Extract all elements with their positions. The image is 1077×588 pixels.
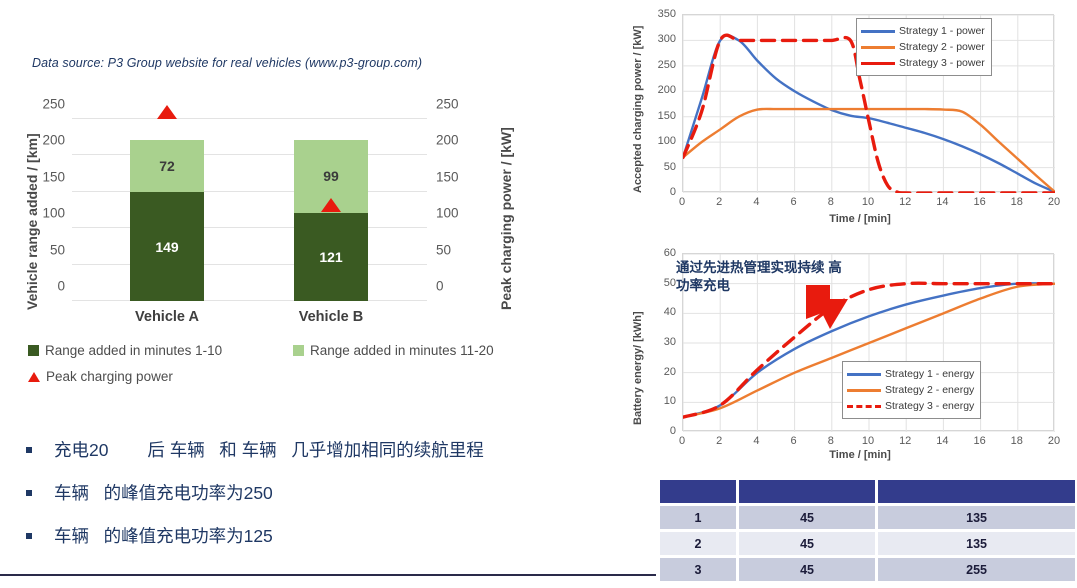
y2-tick-label: 200 <box>436 133 474 148</box>
x-tick-label: 18 <box>1006 196 1028 208</box>
light-green-swatch-icon <box>293 345 304 356</box>
legend-item[interactable]: Strategy 1 - energy <box>847 366 974 382</box>
y-tick-label: 150 <box>650 110 676 122</box>
y-tick-label: 60 <box>650 247 676 259</box>
table-cell: 1 <box>659 505 737 530</box>
footer-divider <box>0 574 656 576</box>
y-tick-label: 250 <box>650 59 676 71</box>
bar-value-label: 121 <box>319 249 342 265</box>
x-tick-label: 18 <box>1006 435 1028 447</box>
legend-label: Strategy 3 - power <box>899 57 985 69</box>
legend-item[interactable]: Strategy 2 - power <box>861 39 985 55</box>
x-tick-label: 4 <box>745 435 767 447</box>
energy-line-chart: Battery energy/ [kWh] Time / [min] 0 10 … <box>620 243 1077 468</box>
y-tick-label: 0 <box>27 279 65 294</box>
y-tick-label: 50 <box>650 277 676 289</box>
legend-item[interactable]: Strategy 2 - energy <box>847 382 974 398</box>
table-cell: 135 <box>877 505 1076 530</box>
legend-label: Strategy 3 - energy <box>885 400 974 412</box>
y2-tick-label: 50 <box>436 242 474 257</box>
y-tick-label: 30 <box>650 336 676 348</box>
y-tick-label: 200 <box>650 84 676 96</box>
x-tick-label: 8 <box>820 435 842 447</box>
table-row[interactable]: 2 45 135 <box>659 531 1076 556</box>
gridline <box>72 118 427 119</box>
gridline <box>72 264 427 265</box>
bar-segment-range-1-10[interactable]: 121 <box>294 213 368 301</box>
y-tick-label: 200 <box>27 133 65 148</box>
blue-line-icon <box>847 373 881 376</box>
y-tick-label: 10 <box>650 395 676 407</box>
x-tick-label: 20 <box>1043 435 1065 447</box>
bar-segment-range-1-10[interactable]: 149 <box>130 192 204 301</box>
y2-tick-label: 150 <box>436 169 474 184</box>
right-panel: Accepted charging power / [kW] Time / [m… <box>620 0 1077 588</box>
legend-item[interactable]: Strategy 1 - power <box>861 23 985 39</box>
legend-item-range-1-10[interactable]: Range added in minutes 1-10 <box>28 343 222 358</box>
y-tick-label: 150 <box>27 169 65 184</box>
energy-chart-x-axis-title: Time / [min] <box>680 449 1040 461</box>
table-cell: 2 <box>659 531 737 556</box>
y-tick-label: 20 <box>650 366 676 378</box>
table-header-row <box>659 479 1076 504</box>
bar-chart: Vehicle range added / [km] Peak charging… <box>0 95 540 340</box>
table-cell: 135 <box>877 531 1076 556</box>
table-header-cell <box>738 479 876 504</box>
x-category-label: Vehicle B <box>251 309 411 325</box>
blue-line-icon <box>861 30 895 33</box>
bar-chart-y2-axis-title: Peak charging power / [kW] <box>498 127 514 310</box>
gridline <box>72 300 427 301</box>
y2-tick-label: 250 <box>436 96 474 111</box>
x-tick-label: 12 <box>894 196 916 208</box>
orange-line-icon <box>847 389 881 392</box>
left-panel: Data source: P3 Group website for real v… <box>0 0 655 588</box>
bar-value-label: 149 <box>155 239 178 255</box>
x-tick-label: 4 <box>745 196 767 208</box>
power-line-chart: Accepted charging power / [kW] Time / [m… <box>620 8 1077 233</box>
table-cell: 45 <box>738 557 876 582</box>
energy-chart-legend: Strategy 1 - energy Strategy 2 - energy … <box>842 361 981 419</box>
y2-tick-label: 0 <box>436 279 474 294</box>
bullet-item: 车辆 的峰值充电功率为125 <box>24 526 624 547</box>
x-tick-label: 6 <box>783 196 805 208</box>
x-tick-label: 0 <box>671 435 693 447</box>
y2-tick-label: 100 <box>436 206 474 221</box>
table-cell: 3 <box>659 557 737 582</box>
table-cell: 255 <box>877 557 1076 582</box>
legend-item-range-11-20[interactable]: Range added in minutes 11-20 <box>293 343 494 358</box>
table-header-cell <box>877 479 1076 504</box>
legend-item[interactable]: Strategy 3 - power <box>861 55 985 71</box>
x-tick-label: 10 <box>857 435 879 447</box>
x-tick-label: 14 <box>931 196 953 208</box>
summary-table: 1 45 135 2 45 135 3 45 255 <box>658 478 1077 583</box>
y-tick-label: 250 <box>27 96 65 111</box>
y-tick-label: 100 <box>27 206 65 221</box>
data-source-caption: Data source: P3 Group website for real v… <box>32 56 422 70</box>
dark-green-swatch-icon <box>28 345 39 356</box>
peak-power-marker-b <box>321 198 341 212</box>
x-tick-label: 12 <box>894 435 916 447</box>
y-tick-label: 300 <box>650 33 676 45</box>
slide-page: Data source: P3 Group website for real v… <box>0 0 1077 588</box>
x-tick-label: 20 <box>1043 196 1065 208</box>
legend-label: Range added in minutes 1-10 <box>45 343 222 358</box>
bullet-item: 车辆 的峰值充电功率为250 <box>24 483 624 504</box>
table-cell: 45 <box>738 531 876 556</box>
bar-chart-legend: Range added in minutes 1-10 Range added … <box>28 343 548 387</box>
x-tick-label: 0 <box>671 196 693 208</box>
red-dashed-line-icon <box>847 405 881 408</box>
table-header-cell <box>659 479 737 504</box>
x-category-label: Vehicle A <box>87 309 247 325</box>
energy-chart-y-axis-title: Battery energy/ [kWh] <box>632 311 644 425</box>
x-tick-label: 2 <box>708 196 730 208</box>
x-tick-label: 2 <box>708 435 730 447</box>
table-row[interactable]: 3 45 255 <box>659 557 1076 582</box>
x-tick-label: 6 <box>783 435 805 447</box>
y-tick-label: 350 <box>650 8 676 20</box>
bar-value-label: 99 <box>323 168 339 184</box>
y-tick-label: 40 <box>650 306 676 318</box>
x-tick-label: 10 <box>857 196 879 208</box>
bullet-list: 充电20 后 车辆 和 车辆 几乎增加相同的续航里程 车辆 的峰值充电功率为25… <box>24 440 624 569</box>
legend-row: Peak charging power <box>28 365 548 387</box>
legend-label: Peak charging power <box>46 369 173 384</box>
power-chart-legend: Strategy 1 - power Strategy 2 - power St… <box>856 18 992 76</box>
x-tick-label: 8 <box>820 196 842 208</box>
y-tick-label: 50 <box>27 242 65 257</box>
table-row[interactable]: 1 45 135 <box>659 505 1076 530</box>
red-line-icon <box>861 62 895 65</box>
bullet-item: 充电20 后 车辆 和 车辆 几乎增加相同的续航里程 <box>24 440 624 461</box>
bar-value-label: 72 <box>159 158 175 174</box>
x-tick-label: 14 <box>931 435 953 447</box>
x-tick-label: 16 <box>969 435 991 447</box>
power-chart-x-axis-title: Time / [min] <box>680 213 1040 225</box>
legend-label: Range added in minutes 11-20 <box>310 343 494 358</box>
gridline <box>72 191 427 192</box>
bar-segment-range-11-20[interactable]: 72 <box>130 140 204 193</box>
peak-power-marker-a <box>157 105 177 119</box>
legend-label: Strategy 1 - power <box>899 25 985 37</box>
legend-item-peak-power[interactable]: Peak charging power <box>28 369 173 384</box>
y-tick-label: 50 <box>650 161 676 173</box>
legend-row: Range added in minutes 1-10 Range added … <box>28 343 548 365</box>
legend-label: Strategy 2 - power <box>899 41 985 53</box>
table-cell: 45 <box>738 505 876 530</box>
gridline <box>72 227 427 228</box>
y-tick-label: 100 <box>650 135 676 147</box>
power-chart-y-axis-title: Accepted charging power / [kW] <box>632 26 644 193</box>
bar-chart-plot-area: 0 50 100 150 200 250 0 50 100 150 200 25… <box>72 111 427 301</box>
red-arrow-icon <box>800 283 860 338</box>
red-triangle-icon <box>28 372 40 382</box>
legend-label: Strategy 2 - energy <box>885 384 974 396</box>
gridline <box>72 154 427 155</box>
legend-item[interactable]: Strategy 3 - energy <box>847 398 974 414</box>
x-tick-label: 16 <box>969 196 991 208</box>
legend-label: Strategy 1 - energy <box>885 368 974 380</box>
orange-line-icon <box>861 46 895 49</box>
